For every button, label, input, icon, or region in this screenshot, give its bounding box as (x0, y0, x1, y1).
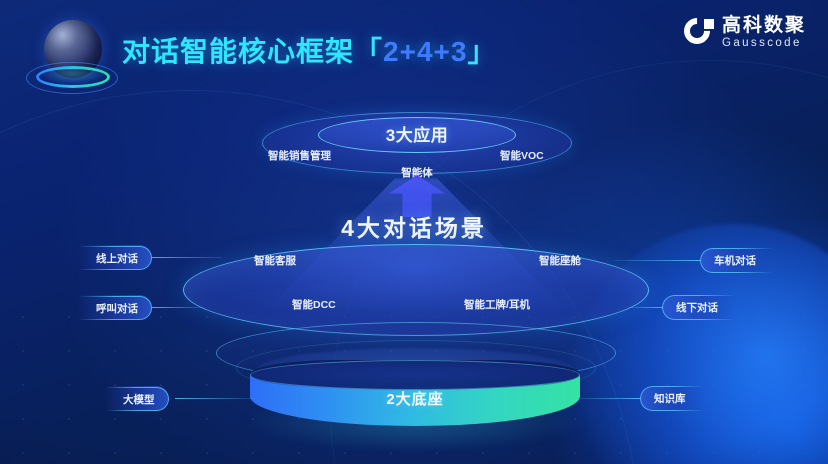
badge-online-dialogue[interactable]: 线上对话 (78, 245, 152, 270)
badge-invehicle-dialogue[interactable]: 车机对话 (700, 248, 774, 273)
foundation-title: 2大底座 (250, 388, 580, 409)
scenario-label-cockpit: 智能座舱 (539, 253, 581, 268)
badge-online-dialogue-label: 线上对话 (96, 251, 138, 266)
leader-line-online (152, 257, 222, 258)
slide-canvas: 对话智能核心框架「2+4+3」 高科数聚 Gausscode 3大应用 智能销售… (0, 0, 828, 464)
badge-large-model[interactable]: 大模型 (105, 386, 169, 411)
leader-line-knowledge-base (580, 398, 642, 399)
framework-diagram: 3大应用 智能销售管理 智能VOC 智能体 4大对话场景 智能客服 智能座舱 智… (0, 0, 828, 464)
scenario-label-badge-headset: 智能工牌/耳机 (464, 297, 530, 312)
scenario-label-dcc: 智能DCC (292, 297, 336, 312)
application-label-voc: 智能VOC (500, 148, 544, 163)
badge-call-dialogue[interactable]: 呼叫对话 (78, 295, 152, 320)
application-label-sales: 智能销售管理 (268, 148, 331, 163)
scenarios-title: 4大对话场景 (0, 209, 828, 243)
badge-invehicle-dialogue-label: 车机对话 (714, 253, 756, 268)
applications-title: 3大应用 (318, 121, 516, 146)
badge-knowledge-base-label: 知识库 (654, 391, 686, 406)
leader-line-offline (628, 307, 664, 308)
badge-large-model-label: 大模型 (123, 392, 155, 407)
badge-offline-dialogue-label: 线下对话 (676, 300, 718, 315)
badge-offline-dialogue[interactable]: 线下对话 (662, 295, 736, 320)
scenario-label-service: 智能客服 (254, 253, 296, 268)
leader-line-model (175, 398, 255, 399)
badge-knowledge-base[interactable]: 知识库 (640, 386, 704, 411)
leader-line-car (614, 260, 702, 261)
foundation-cylinder-top (250, 360, 580, 390)
leader-line-call (152, 307, 204, 308)
badge-call-dialogue-label: 呼叫对话 (96, 301, 138, 316)
